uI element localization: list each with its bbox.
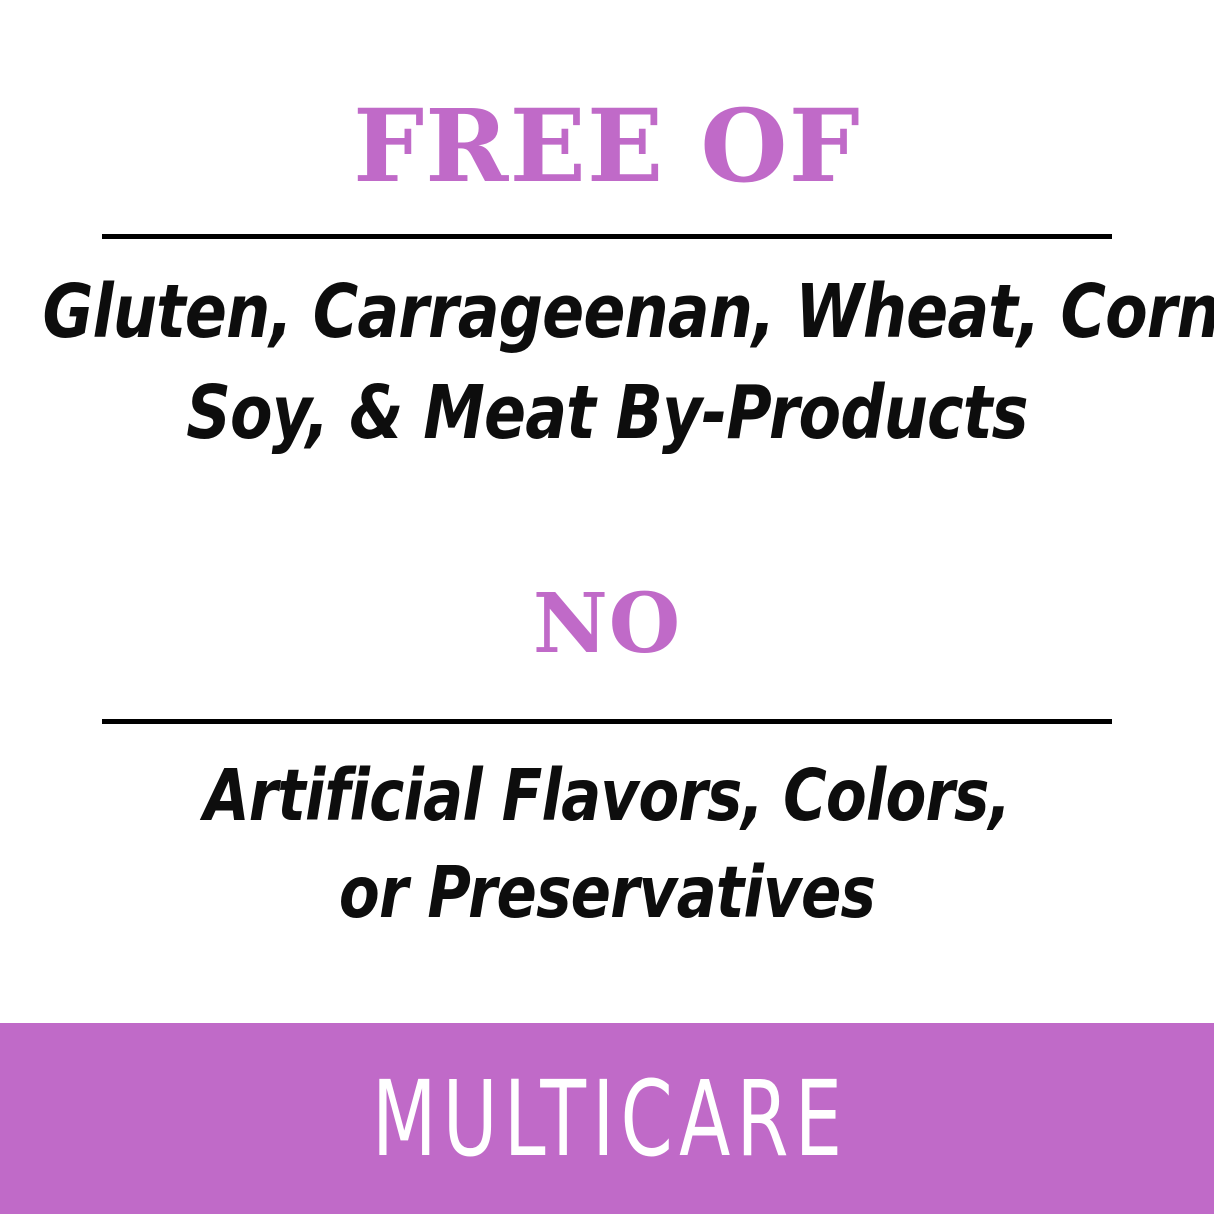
free-of-line-2: Soy, & Meat By-Products xyxy=(42,363,1171,464)
no-line-2: or Preservatives xyxy=(42,845,1171,942)
claims-content: FREE OF Gluten, Carrageenan, Wheat, Corn… xyxy=(0,0,1214,1023)
no-heading: NO xyxy=(0,583,1214,665)
free-of-divider-rule xyxy=(102,234,1112,239)
no-line-1: Artificial Flavors, Colors, xyxy=(42,748,1171,845)
free-of-line-1: Gluten, Carrageenan, Wheat, Corn, xyxy=(42,262,1171,363)
brand-banner: MULTICARE xyxy=(0,1023,1214,1214)
brand-wordmark: MULTICARE xyxy=(121,1023,1092,1214)
product-claims-panel: FREE OF Gluten, Carrageenan, Wheat, Corn… xyxy=(0,0,1214,1214)
no-ingredient-list: Artificial Flavors, Colors, or Preservat… xyxy=(0,748,1214,941)
no-divider-rule xyxy=(102,719,1112,724)
free-of-heading: FREE OF xyxy=(0,96,1214,196)
free-of-ingredient-list: Gluten, Carrageenan, Wheat, Corn, Soy, &… xyxy=(0,262,1214,463)
